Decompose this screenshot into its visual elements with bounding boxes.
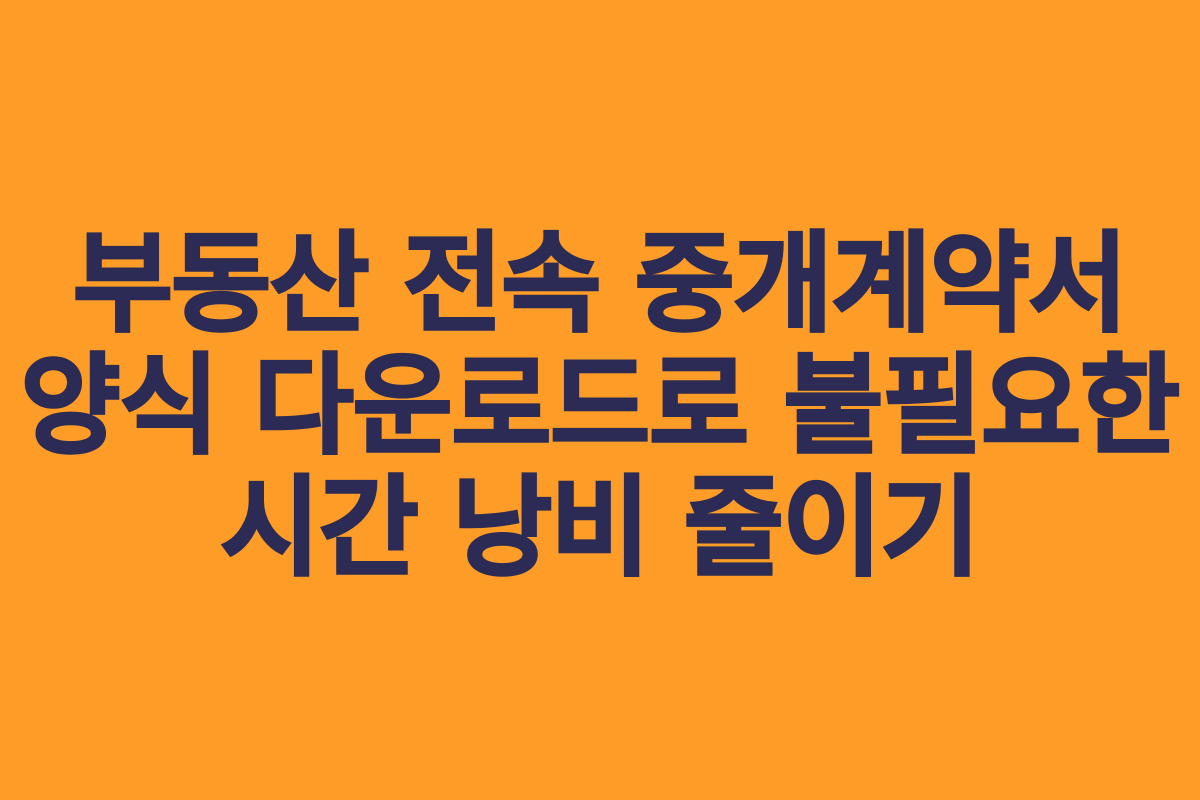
headline-line-1: 부동산 전속 중개계약서 bbox=[18, 223, 1182, 345]
banner-canvas: 부동산 전속 중개계약서 양식 다운로드로 불필요한 시간 낭비 줄이기 bbox=[0, 0, 1200, 800]
headline-line-3: 시간 낭비 줄이기 bbox=[18, 467, 1182, 589]
headline-line-2: 양식 다운로드로 불필요한 bbox=[18, 345, 1182, 467]
headline-block: 부동산 전속 중개계약서 양식 다운로드로 불필요한 시간 낭비 줄이기 bbox=[0, 223, 1200, 589]
